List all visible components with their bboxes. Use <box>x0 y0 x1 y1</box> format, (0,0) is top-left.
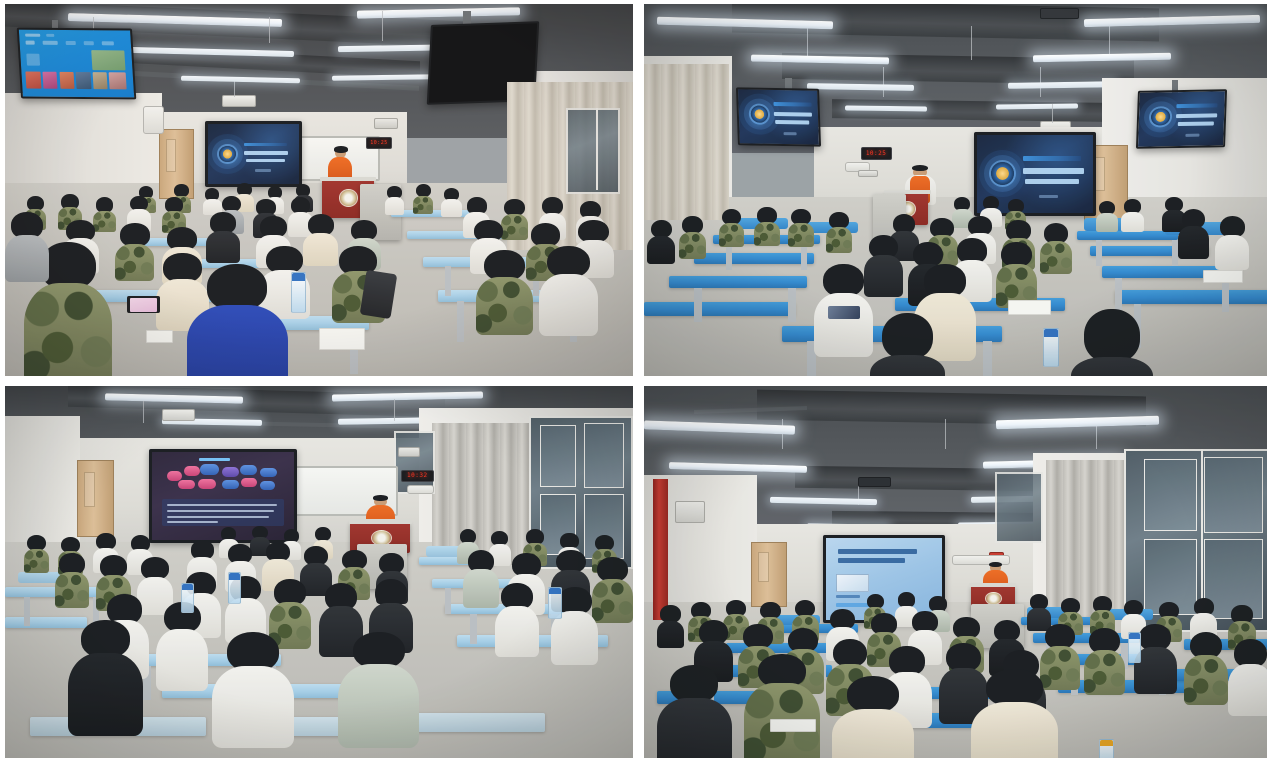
classroom-door <box>77 460 114 536</box>
foreground-student-bottom <box>870 313 945 376</box>
water-bottle <box>228 572 241 604</box>
hanging-tv-left[interactable] <box>736 87 821 146</box>
foreground-student-right <box>1071 309 1153 376</box>
ceiling-projector <box>162 409 195 421</box>
foreground-student-left <box>657 665 732 758</box>
wall-led-clock: 10:25 <box>366 137 392 149</box>
tv-thumbnail-tile <box>91 50 125 70</box>
photo-bottom-left[interactable]: 10:32 <box>5 386 633 758</box>
notes-paper <box>770 719 816 732</box>
photo-bottom-right[interactable] <box>644 386 1267 758</box>
tablet-device[interactable] <box>127 296 160 313</box>
wall-tv-streaming[interactable] <box>17 28 136 100</box>
wall-led-clock: 10:25 <box>861 147 892 160</box>
water-bottle <box>291 272 306 313</box>
slide-thumbnail <box>836 574 868 592</box>
foreground-student-left <box>68 620 143 732</box>
water-bottle <box>1043 328 1059 367</box>
photo-collage: 10:25 <box>0 0 1267 760</box>
photo-top-right[interactable]: 10:25 <box>644 4 1267 376</box>
red-pillar <box>653 479 668 620</box>
foreground-student-left <box>814 264 874 353</box>
handout-paper <box>319 328 365 350</box>
classroom-door <box>751 542 788 607</box>
hanging-tv-right[interactable] <box>1136 89 1227 148</box>
foreground-student-center <box>212 632 294 744</box>
foreground-student-right <box>338 632 420 744</box>
foreground-student-camo <box>744 654 819 758</box>
photo-top-left[interactable]: 10:25 <box>5 4 633 376</box>
foreground-student-right <box>971 669 1059 758</box>
foreground-student-center <box>832 676 914 758</box>
projector-screen <box>205 121 303 187</box>
foreground-student-center <box>187 264 287 376</box>
water-bottle <box>1128 632 1142 664</box>
wall-led-clock: 10:32 <box>401 470 434 482</box>
notebook <box>1008 300 1051 315</box>
